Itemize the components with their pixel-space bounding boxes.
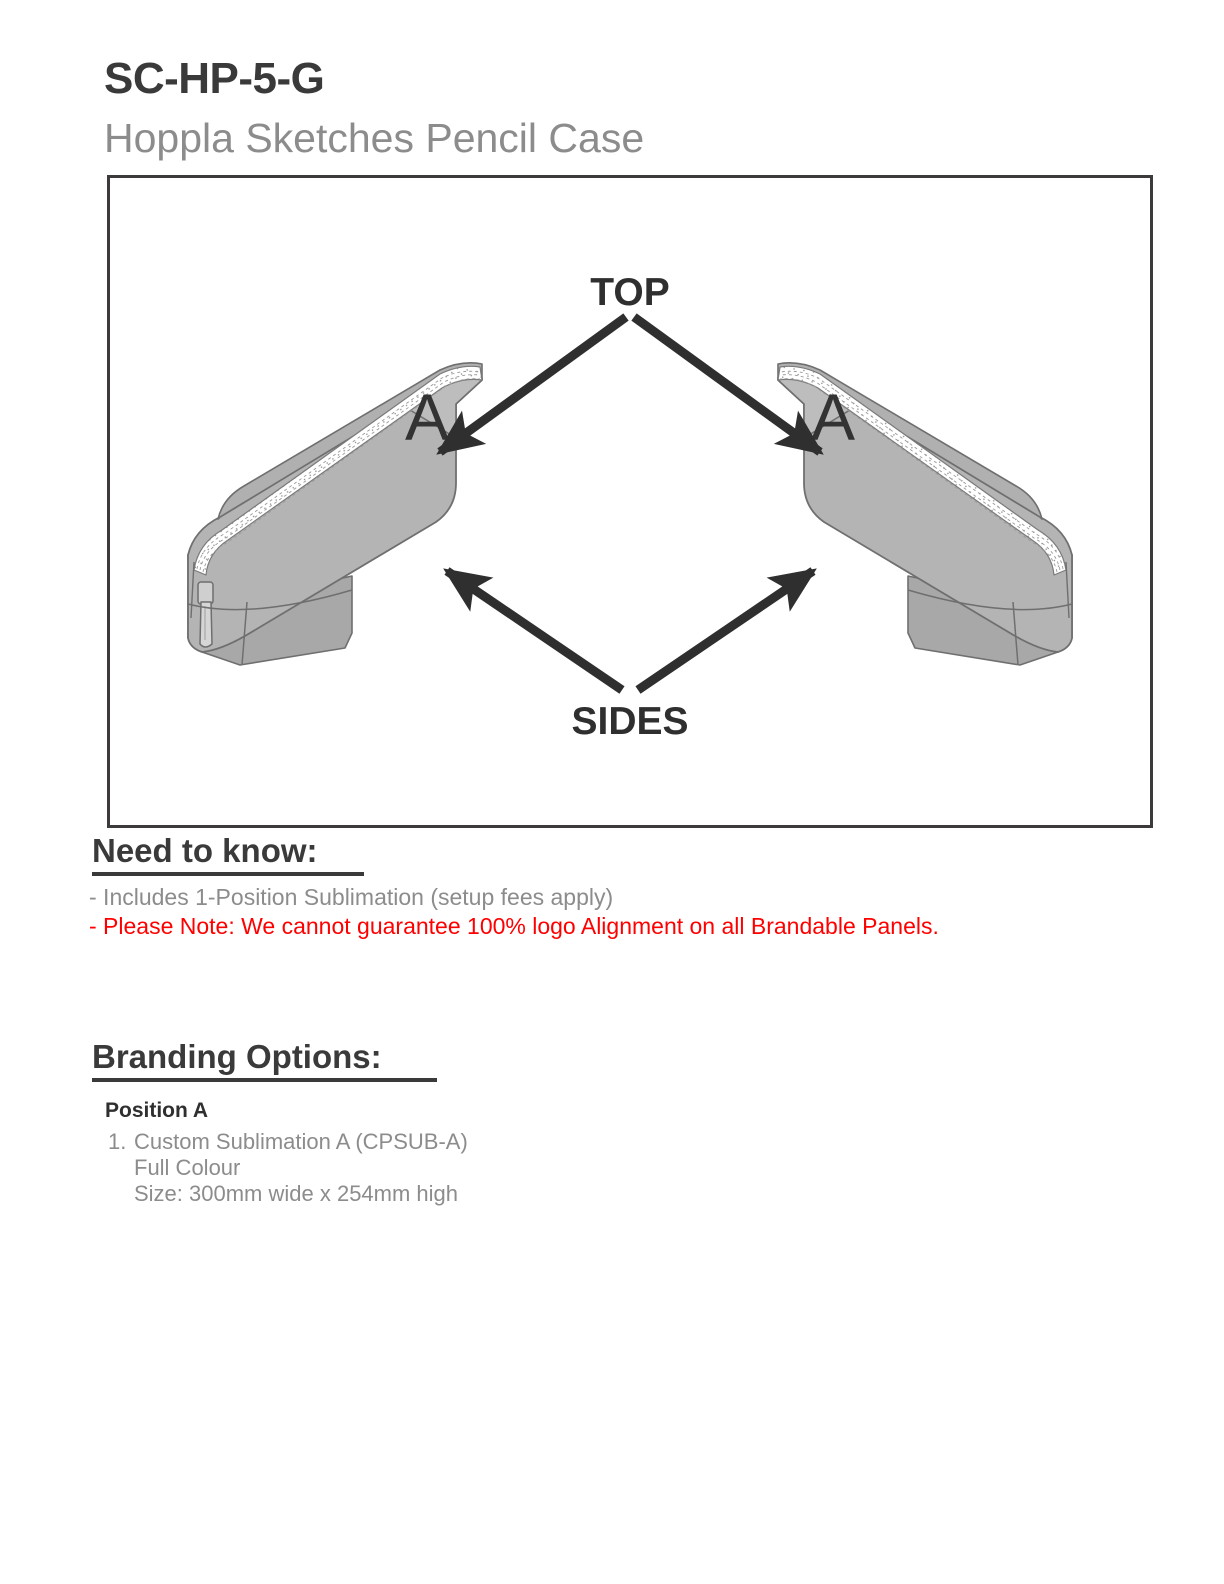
branding-option-colour: Full Colour <box>108 1155 468 1181</box>
branding-option-item: 1.Custom Sublimation A (CPSUB-A) Full Co… <box>108 1129 468 1207</box>
zipper-pull-left <box>198 582 213 647</box>
callout-top: TOP <box>440 271 820 452</box>
panel-marker-right: A <box>811 380 855 454</box>
label-sides: SIDES <box>571 700 688 743</box>
panel-marker-left: A <box>405 380 449 454</box>
product-subtitle: Hoppla Sketches Pencil Case <box>104 118 644 159</box>
label-top: TOP <box>590 271 669 314</box>
branding-option-name: Custom Sublimation A (CPSUB-A) <box>134 1129 468 1154</box>
pencil-case-left: A <box>188 363 482 665</box>
need-to-know-heading: Need to know: <box>92 834 318 867</box>
product-spec-page: SC-HP-5-G Hoppla Sketches Pencil Case <box>0 0 1224 1584</box>
branding-options-heading: Branding Options: <box>92 1040 382 1073</box>
product-illustration-frame: A A <box>107 175 1153 828</box>
branding-option-number: 1. <box>108 1129 134 1155</box>
callout-sides: SIDES <box>447 571 813 743</box>
need-to-know-underline <box>92 872 364 876</box>
branding-option-size: Size: 300mm wide x 254mm high <box>108 1181 468 1207</box>
branding-options-underline <box>92 1078 437 1082</box>
branding-position-label: Position A <box>105 1100 208 1121</box>
pencil-case-diagram: A A <box>110 178 1150 825</box>
need-to-know-line-note: - Please Note: We cannot guarantee 100% … <box>89 911 939 942</box>
need-to-know-line-includes: - Includes 1-Position Sublimation (setup… <box>89 882 613 913</box>
page-title: SC-HP-5-G <box>104 57 324 101</box>
